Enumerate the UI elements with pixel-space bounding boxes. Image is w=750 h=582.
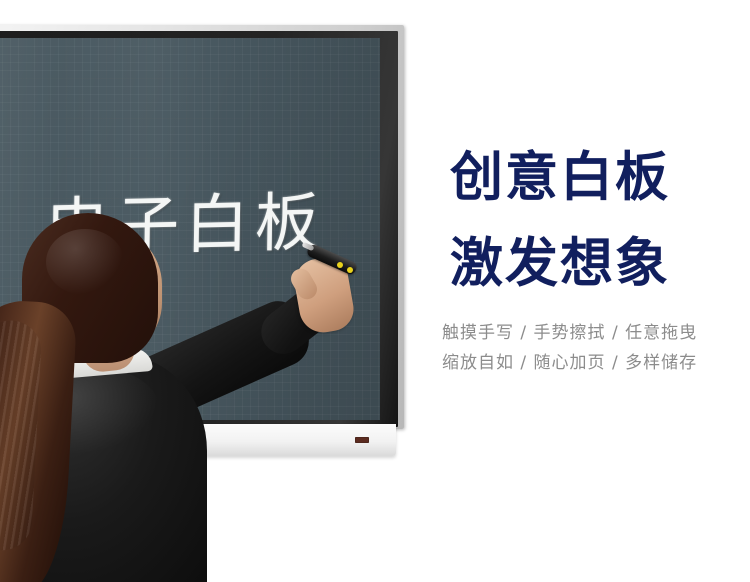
headline-line-1: 创意白板	[450, 135, 740, 221]
product-photo: 电子白板	[0, 0, 430, 582]
headline-block: 创意白板 激发想象	[450, 135, 740, 307]
stylus-accent-dot	[347, 267, 353, 273]
feature-line-2: 缩放自如 / 随心加页 / 多样储存	[442, 348, 748, 378]
presenter-figure	[0, 205, 330, 582]
headline-line-2: 激发想象	[450, 221, 740, 307]
stylus-accent-dot	[337, 262, 343, 268]
product-banner: 电子白板 创意白板 激发想象 触摸手写 /	[0, 0, 750, 582]
feature-line-1: 触摸手写 / 手势擦拭 / 任意拖曳	[442, 318, 748, 348]
marketing-text-panel: 创意白板 激发想象 触摸手写 / 手势擦拭 / 任意拖曳 缩放自如 / 随心加页…	[430, 0, 750, 582]
whiteboard-brand-badge	[355, 437, 369, 443]
feature-list-block: 触摸手写 / 手势擦拭 / 任意拖曳 缩放自如 / 随心加页 / 多样储存	[442, 318, 748, 378]
